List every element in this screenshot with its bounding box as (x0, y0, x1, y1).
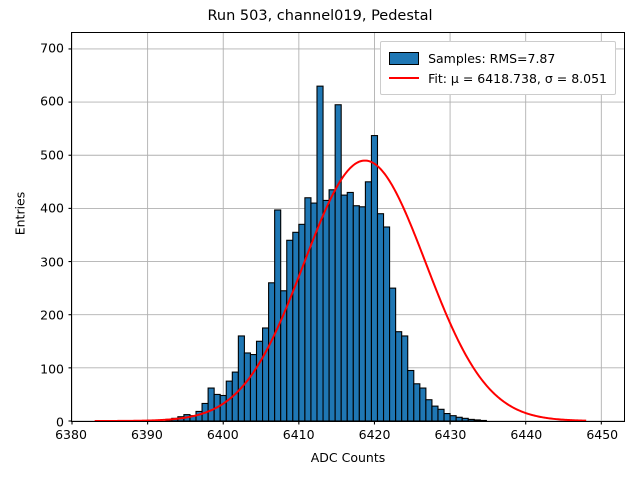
y-tick-100: 100 (6, 361, 64, 376)
x-tick-6430: 6430 (435, 427, 467, 442)
figure: Run 503, channel019, Pedestal Entries 01… (0, 0, 640, 480)
plot-area: Samples: RMS=7.87 Fit: μ = 6418.738, σ =… (71, 32, 625, 422)
y-tick-300: 300 (6, 254, 64, 269)
x-tick-6410: 6410 (283, 427, 315, 442)
y-tick-600: 600 (6, 94, 64, 109)
y-axis-tick-labels: 0100200300400500600700 (0, 32, 64, 422)
legend-entry-samples: Samples: RMS=7.87 (389, 48, 607, 68)
x-tick-6390: 6390 (131, 427, 163, 442)
y-tick-400: 400 (6, 201, 64, 216)
legend-swatch-fit-icon (389, 77, 419, 79)
x-tick-6420: 6420 (359, 427, 391, 442)
chart-title: Run 503, channel019, Pedestal (0, 8, 640, 24)
legend-label-samples: Samples: RMS=7.87 (428, 51, 555, 66)
x-axis-tick-labels: 63806390640064106420643064406450 (71, 427, 625, 447)
y-tick-500: 500 (6, 147, 64, 162)
x-tick-6450: 6450 (586, 427, 618, 442)
chart-legend: Samples: RMS=7.87 Fit: μ = 6418.738, σ =… (380, 41, 616, 95)
x-tick-6380: 6380 (55, 427, 87, 442)
legend-label-fit: Fit: μ = 6418.738, σ = 8.051 (428, 71, 607, 86)
x-tick-6440: 6440 (510, 427, 542, 442)
x-axis-label: ADC Counts (71, 450, 625, 465)
y-tick-200: 200 (6, 308, 64, 323)
y-tick-700: 700 (6, 41, 64, 56)
legend-swatch-samples-icon (389, 52, 419, 65)
legend-entry-fit: Fit: μ = 6418.738, σ = 8.051 (389, 68, 607, 88)
x-tick-6400: 6400 (207, 427, 239, 442)
